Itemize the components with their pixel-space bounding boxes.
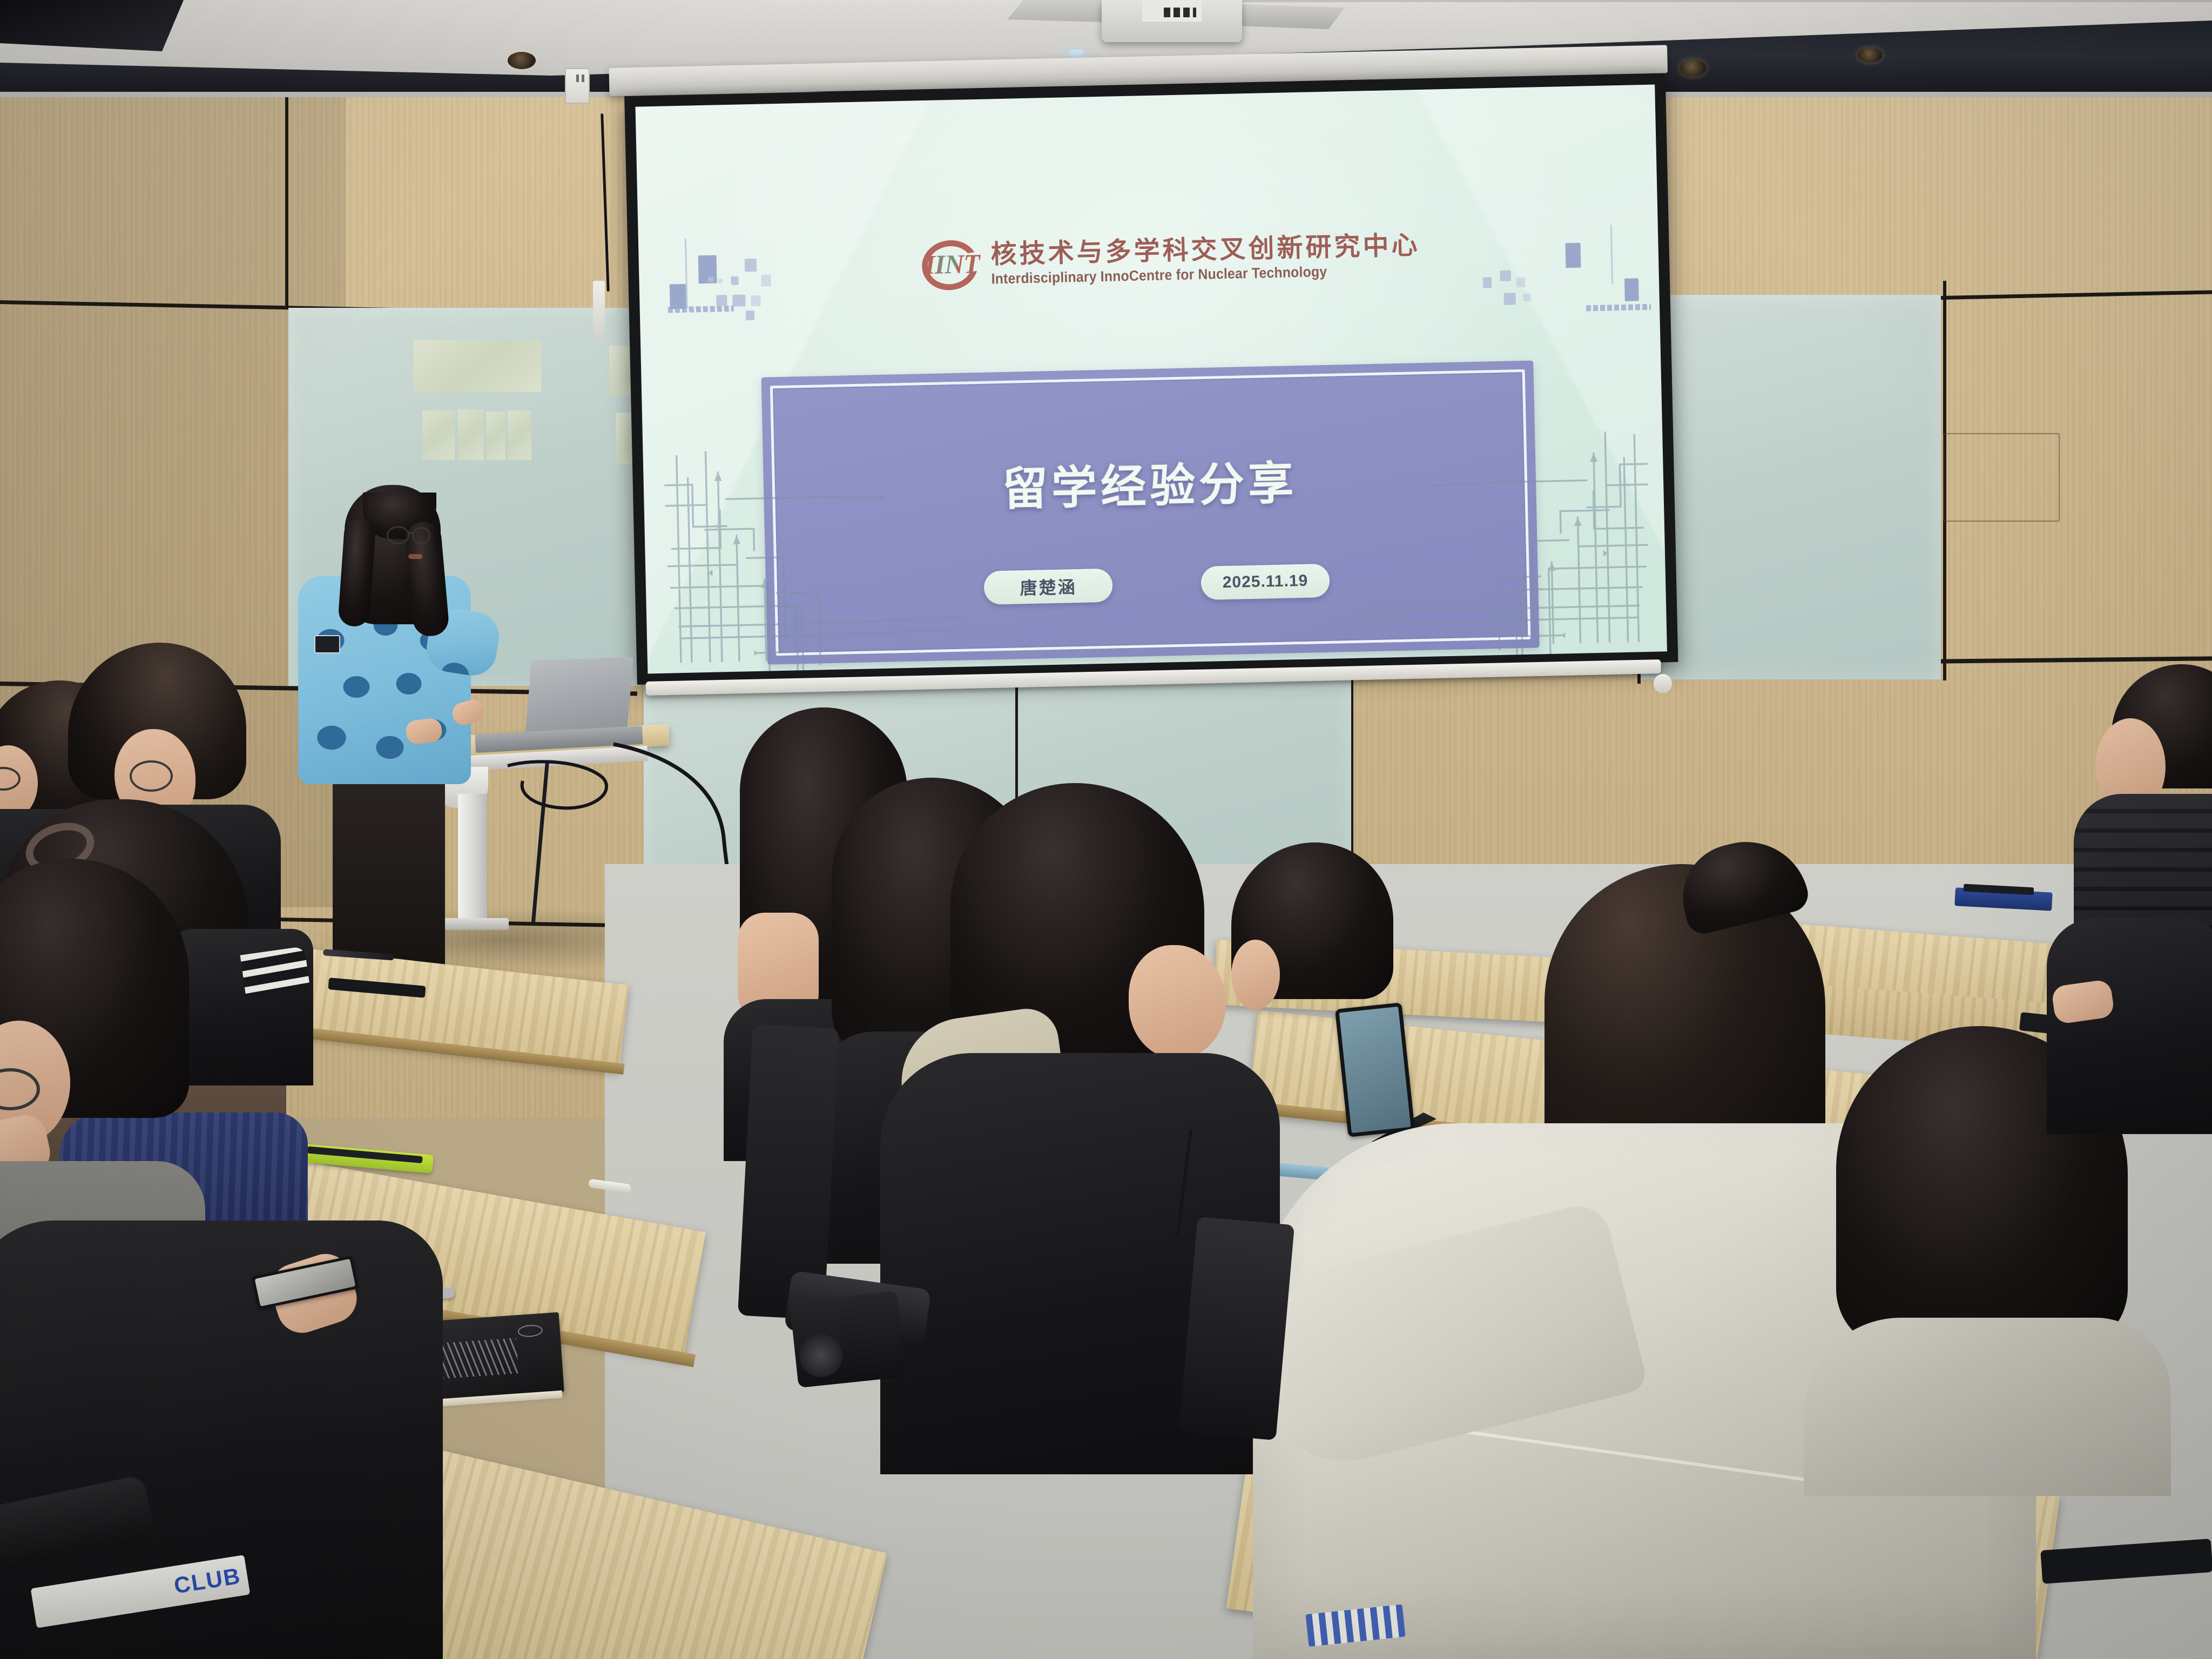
projector-vent-icon xyxy=(1164,8,1196,17)
circuit-decoration-right xyxy=(1311,425,1662,659)
student-center-black-b-face xyxy=(1129,945,1226,1058)
chair-right-1[interactable] xyxy=(1179,1217,1294,1440)
pixel-deco-6 xyxy=(716,295,727,306)
screen-bar-end-cap xyxy=(1654,674,1672,693)
wall-power-outlet[interactable] xyxy=(565,68,590,104)
pixel-deco-1 xyxy=(698,255,717,284)
pixel-bar-left xyxy=(668,306,734,313)
pixel-deco-r4 xyxy=(1516,278,1525,287)
projection-screen-frame: IINT 核技术与多学科交叉创新研究中心 Interdisciplinary I… xyxy=(624,73,1678,685)
pixel-deco-9 xyxy=(746,311,754,320)
student-right-foreground-jacket xyxy=(1804,1318,2171,1496)
downlight-1 xyxy=(508,52,536,69)
glass-window-patch-2 xyxy=(422,410,455,460)
pixel-deco-r6 xyxy=(1523,294,1530,301)
presenter-glasses-left-lens xyxy=(387,526,409,544)
presenter-glasses-bridge xyxy=(409,532,413,534)
org-name-cn: 核技术与多学科交叉创新研究中心 xyxy=(990,233,1420,268)
pixel-deco-r7 xyxy=(1624,278,1639,301)
pixel-deco-10 xyxy=(708,277,713,282)
student-right-edge xyxy=(2047,842,2212,1134)
lecture-room-scene: IINT 核技术与多学科交叉创新研究中心 Interdisciplinary I… xyxy=(0,0,2212,1659)
pixel-deco-r3 xyxy=(1500,270,1511,281)
pixel-deco-r1 xyxy=(1565,243,1581,268)
downlight-2 xyxy=(1680,59,1707,77)
pixel-deco-3 xyxy=(745,259,757,272)
notebook-logo xyxy=(517,1324,543,1338)
pixel-deco-8 xyxy=(751,295,760,306)
student-right-back-head xyxy=(1231,842,1404,1091)
iint-logo-letters: IINT xyxy=(922,248,981,280)
student-short-hair-left-glasses xyxy=(130,760,173,792)
wall-access-hatch[interactable] xyxy=(1943,433,2060,522)
ceiling-seam xyxy=(1242,0,2212,2)
pixel-deco-11 xyxy=(718,279,723,283)
presentation-slide[interactable]: IINT 核技术与多学科交叉创新研究中心 Interdisciplinary I… xyxy=(636,85,1667,674)
presenter-name-pill: 唐楚涵 xyxy=(983,569,1112,605)
pixel-deco-r5 xyxy=(1503,293,1515,305)
pixel-vert-line-right xyxy=(1610,225,1613,284)
presenter-mouth xyxy=(408,554,422,559)
chair-caster xyxy=(799,1334,842,1377)
presenter-glasses-right-lens xyxy=(412,527,430,544)
circuit-decoration-left xyxy=(653,439,1004,673)
iint-logo-icon: IINT xyxy=(919,237,983,294)
student-right-edge-jacket xyxy=(2047,918,2212,1134)
student-right-back-head-ear xyxy=(1231,940,1280,1010)
pixel-deco-7 xyxy=(732,294,745,307)
pixel-bar-right xyxy=(1586,304,1651,312)
presenter-sleeve-patch xyxy=(314,635,340,653)
glass-window-patch-1 xyxy=(414,340,541,392)
pixel-deco-r2 xyxy=(1483,277,1492,288)
lime-green-phone-screen xyxy=(307,1147,422,1164)
pixel-deco-5 xyxy=(670,284,686,309)
club-jacket-text: CLUB xyxy=(172,1564,242,1597)
glass-window-patch-4 xyxy=(486,412,505,460)
presentation-date-pill: 2025.11.19 xyxy=(1201,564,1330,600)
glass-window-patch-3 xyxy=(458,409,484,460)
pixel-deco-2 xyxy=(731,276,738,285)
pixel-deco-4 xyxy=(761,274,771,286)
org-logo: IINT 核技术与多学科交叉创新研究中心 Interdisciplinary I… xyxy=(919,227,1421,294)
cable-clip xyxy=(593,281,605,339)
downlight-3 xyxy=(1858,48,1883,63)
glass-window-patch-5 xyxy=(508,410,531,460)
glass-panel-right xyxy=(1641,295,1941,679)
